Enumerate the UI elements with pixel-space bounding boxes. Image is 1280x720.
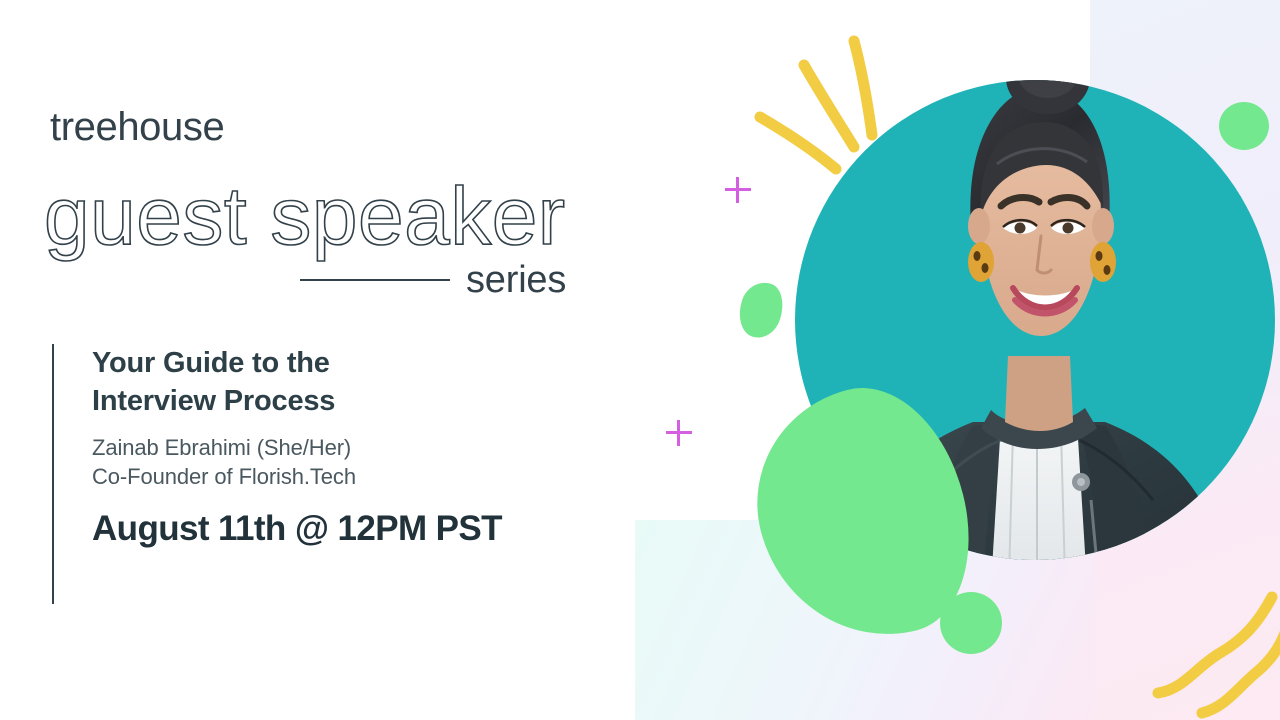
speaker-name: Zainab Ebrahimi (She/Her)	[92, 433, 502, 462]
headline-series: series	[466, 261, 566, 299]
event-info-text: Your Guide to the Interview Process Zain…	[54, 344, 502, 604]
event-info-block: Your Guide to the Interview Process Zain…	[52, 344, 652, 604]
treehouse-logo: treehouse	[50, 107, 224, 147]
series-rule-divider	[300, 279, 450, 281]
event-title-line2: Interview Process	[92, 382, 502, 420]
green-blob-small-shape	[732, 277, 789, 343]
plus-mark-top-icon	[725, 177, 751, 203]
text-column: treehouse guest speaker series Your Guid…	[0, 0, 660, 720]
event-title-line1: Your Guide to the	[92, 344, 502, 382]
speaker-role: Co-Founder of Florish.Tech	[92, 462, 502, 491]
promo-graphic: Smiling woman with hair in a top bun wea…	[0, 0, 1280, 720]
headline-series-row: series	[300, 258, 640, 302]
plus-mark-middle-icon	[666, 420, 692, 446]
headline-guest-speaker: guest speaker	[44, 162, 644, 272]
event-datetime: August 11th @ 12PM PST	[92, 509, 502, 549]
svg-text:guest speaker: guest speaker	[44, 171, 566, 262]
green-dot-bottom-shape	[940, 592, 1002, 654]
